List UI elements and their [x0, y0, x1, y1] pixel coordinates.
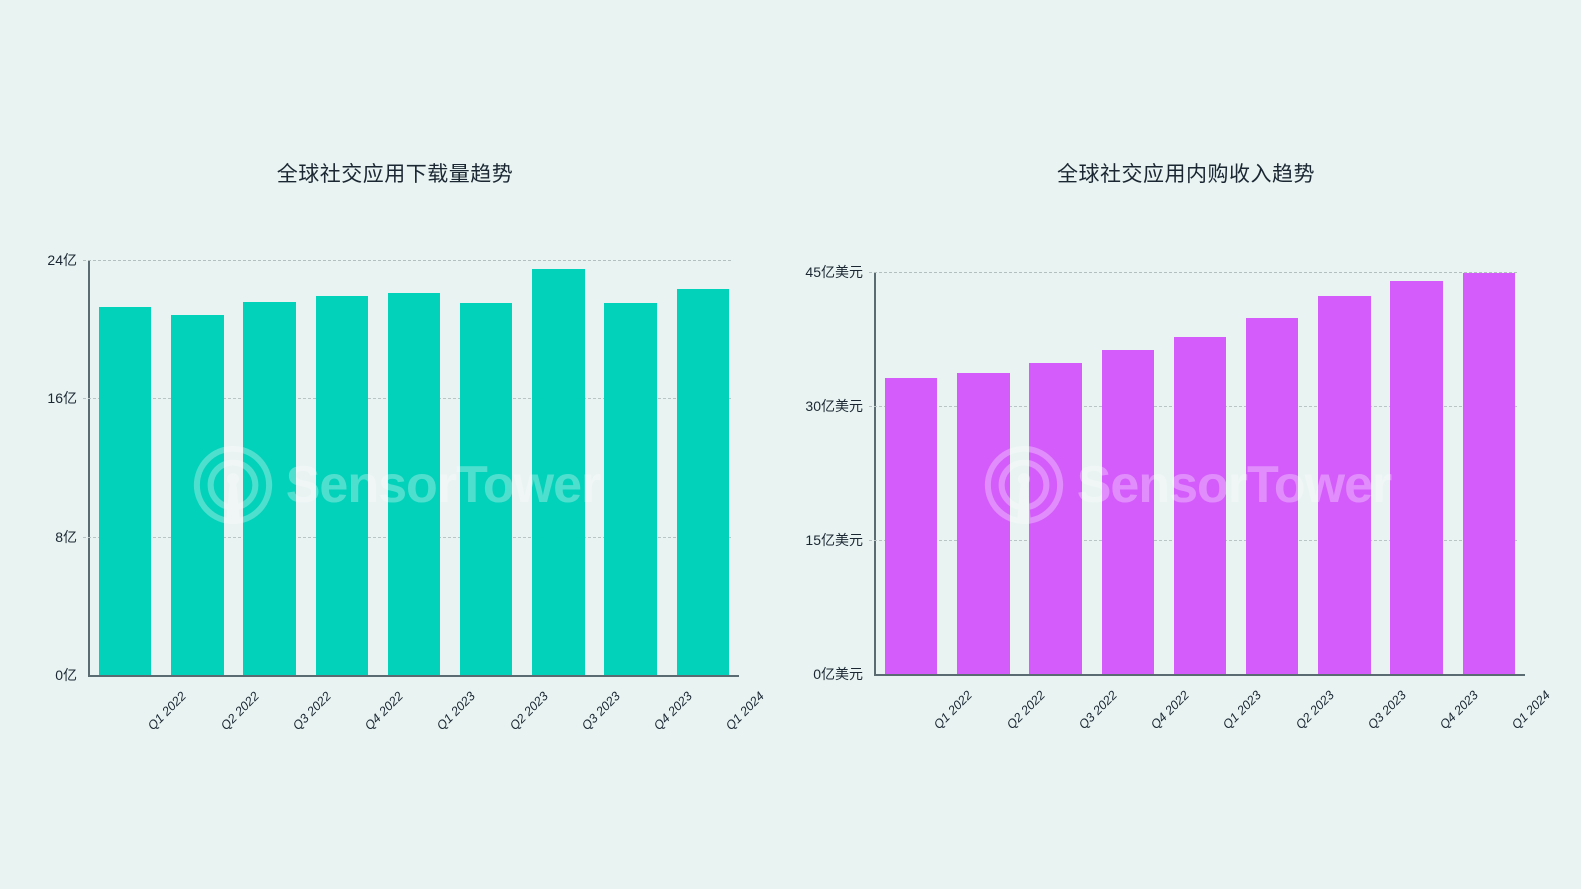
- bar-q3-2023[interactable]: [1318, 296, 1370, 674]
- x-tick-label: Q1 2023: [1220, 688, 1264, 732]
- x-tick-label: Q4 2022: [1148, 688, 1192, 732]
- y-tick-label: 0亿: [55, 665, 77, 685]
- y-tick-label: 30亿美元: [805, 396, 863, 416]
- x-tick-label: Q4 2023: [1437, 688, 1481, 732]
- bar-q1-2022[interactable]: [885, 378, 937, 674]
- x-tick-label: Q2 2022: [218, 689, 262, 733]
- x-tick-label: Q1 2022: [145, 689, 189, 733]
- x-tick-label: Q1 2024: [723, 689, 767, 733]
- x-tick-label: Q2 2023: [507, 689, 551, 733]
- x-tick-label: Q4 2023: [651, 689, 695, 733]
- revenue-chart-panel: 全球社交应用内购收入趋势 0亿美元15亿美元30亿美元45亿美元 Q1 2022…: [791, 0, 1581, 889]
- revenue-chart-title: 全球社交应用内购收入趋势: [791, 158, 1581, 188]
- bar-q4-2022[interactable]: [316, 296, 368, 675]
- bar-q2-2023[interactable]: [460, 303, 512, 675]
- bar-q4-2022[interactable]: [1102, 350, 1154, 674]
- revenue-plot-area: 0亿美元15亿美元30亿美元45亿美元 Q1 2022Q2 2022Q3 202…: [875, 272, 1525, 674]
- y-tick-label: 16亿: [47, 388, 77, 408]
- x-tick-label: Q2 2022: [1004, 688, 1048, 732]
- x-tick-label: Q1 2023: [434, 689, 478, 733]
- revenue-x-axis-line: [874, 674, 1525, 676]
- downloads-plot-area: 0亿8亿16亿24亿 Q1 2022Q2 2022Q3 2022Q4 2022Q…: [89, 260, 739, 675]
- y-tick-label: 0亿美元: [813, 664, 863, 684]
- bar-q2-2023[interactable]: [1246, 318, 1298, 674]
- bar-q1-2023[interactable]: [1174, 337, 1226, 674]
- x-tick-label: Q1 2024: [1509, 688, 1553, 732]
- y-tick-label: 45亿美元: [805, 262, 863, 282]
- bar-q3-2022[interactable]: [243, 302, 295, 676]
- bar-q3-2022[interactable]: [1029, 363, 1081, 674]
- downloads-chart-title: 全球社交应用下载量趋势: [0, 158, 790, 188]
- dashboard-page: 全球社交应用下载量趋势 0亿8亿16亿24亿 Q1 2022Q2 2022Q3 …: [0, 0, 1581, 889]
- y-tick-label: 8亿: [55, 527, 77, 547]
- x-tick-label: Q2 2023: [1293, 688, 1337, 732]
- x-tick-label: Q3 2023: [1365, 688, 1409, 732]
- downloads-chart-panel: 全球社交应用下载量趋势 0亿8亿16亿24亿 Q1 2022Q2 2022Q3 …: [0, 0, 790, 889]
- x-tick-label: Q3 2022: [1076, 688, 1120, 732]
- x-tick-label: Q4 2022: [362, 689, 406, 733]
- downloads-bar-series: [89, 260, 739, 675]
- bar-q2-2022[interactable]: [171, 315, 223, 675]
- bar-q1-2024[interactable]: [677, 289, 729, 675]
- y-tick-label: 24亿: [47, 250, 77, 270]
- bar-q3-2023[interactable]: [532, 269, 584, 675]
- x-tick-label: Q3 2023: [579, 689, 623, 733]
- revenue-bar-series: [875, 272, 1525, 674]
- bar-q2-2022[interactable]: [957, 373, 1009, 674]
- bar-q1-2023[interactable]: [388, 293, 440, 675]
- y-tick-label: 15亿美元: [805, 530, 863, 550]
- bar-q1-2022[interactable]: [99, 307, 151, 675]
- downloads-x-axis-line: [88, 675, 739, 677]
- x-tick-label: Q1 2022: [931, 688, 975, 732]
- bar-q4-2023[interactable]: [1390, 281, 1442, 674]
- bar-q4-2023[interactable]: [604, 303, 656, 675]
- x-tick-label: Q3 2022: [290, 689, 334, 733]
- bar-q1-2024[interactable]: [1463, 273, 1515, 674]
